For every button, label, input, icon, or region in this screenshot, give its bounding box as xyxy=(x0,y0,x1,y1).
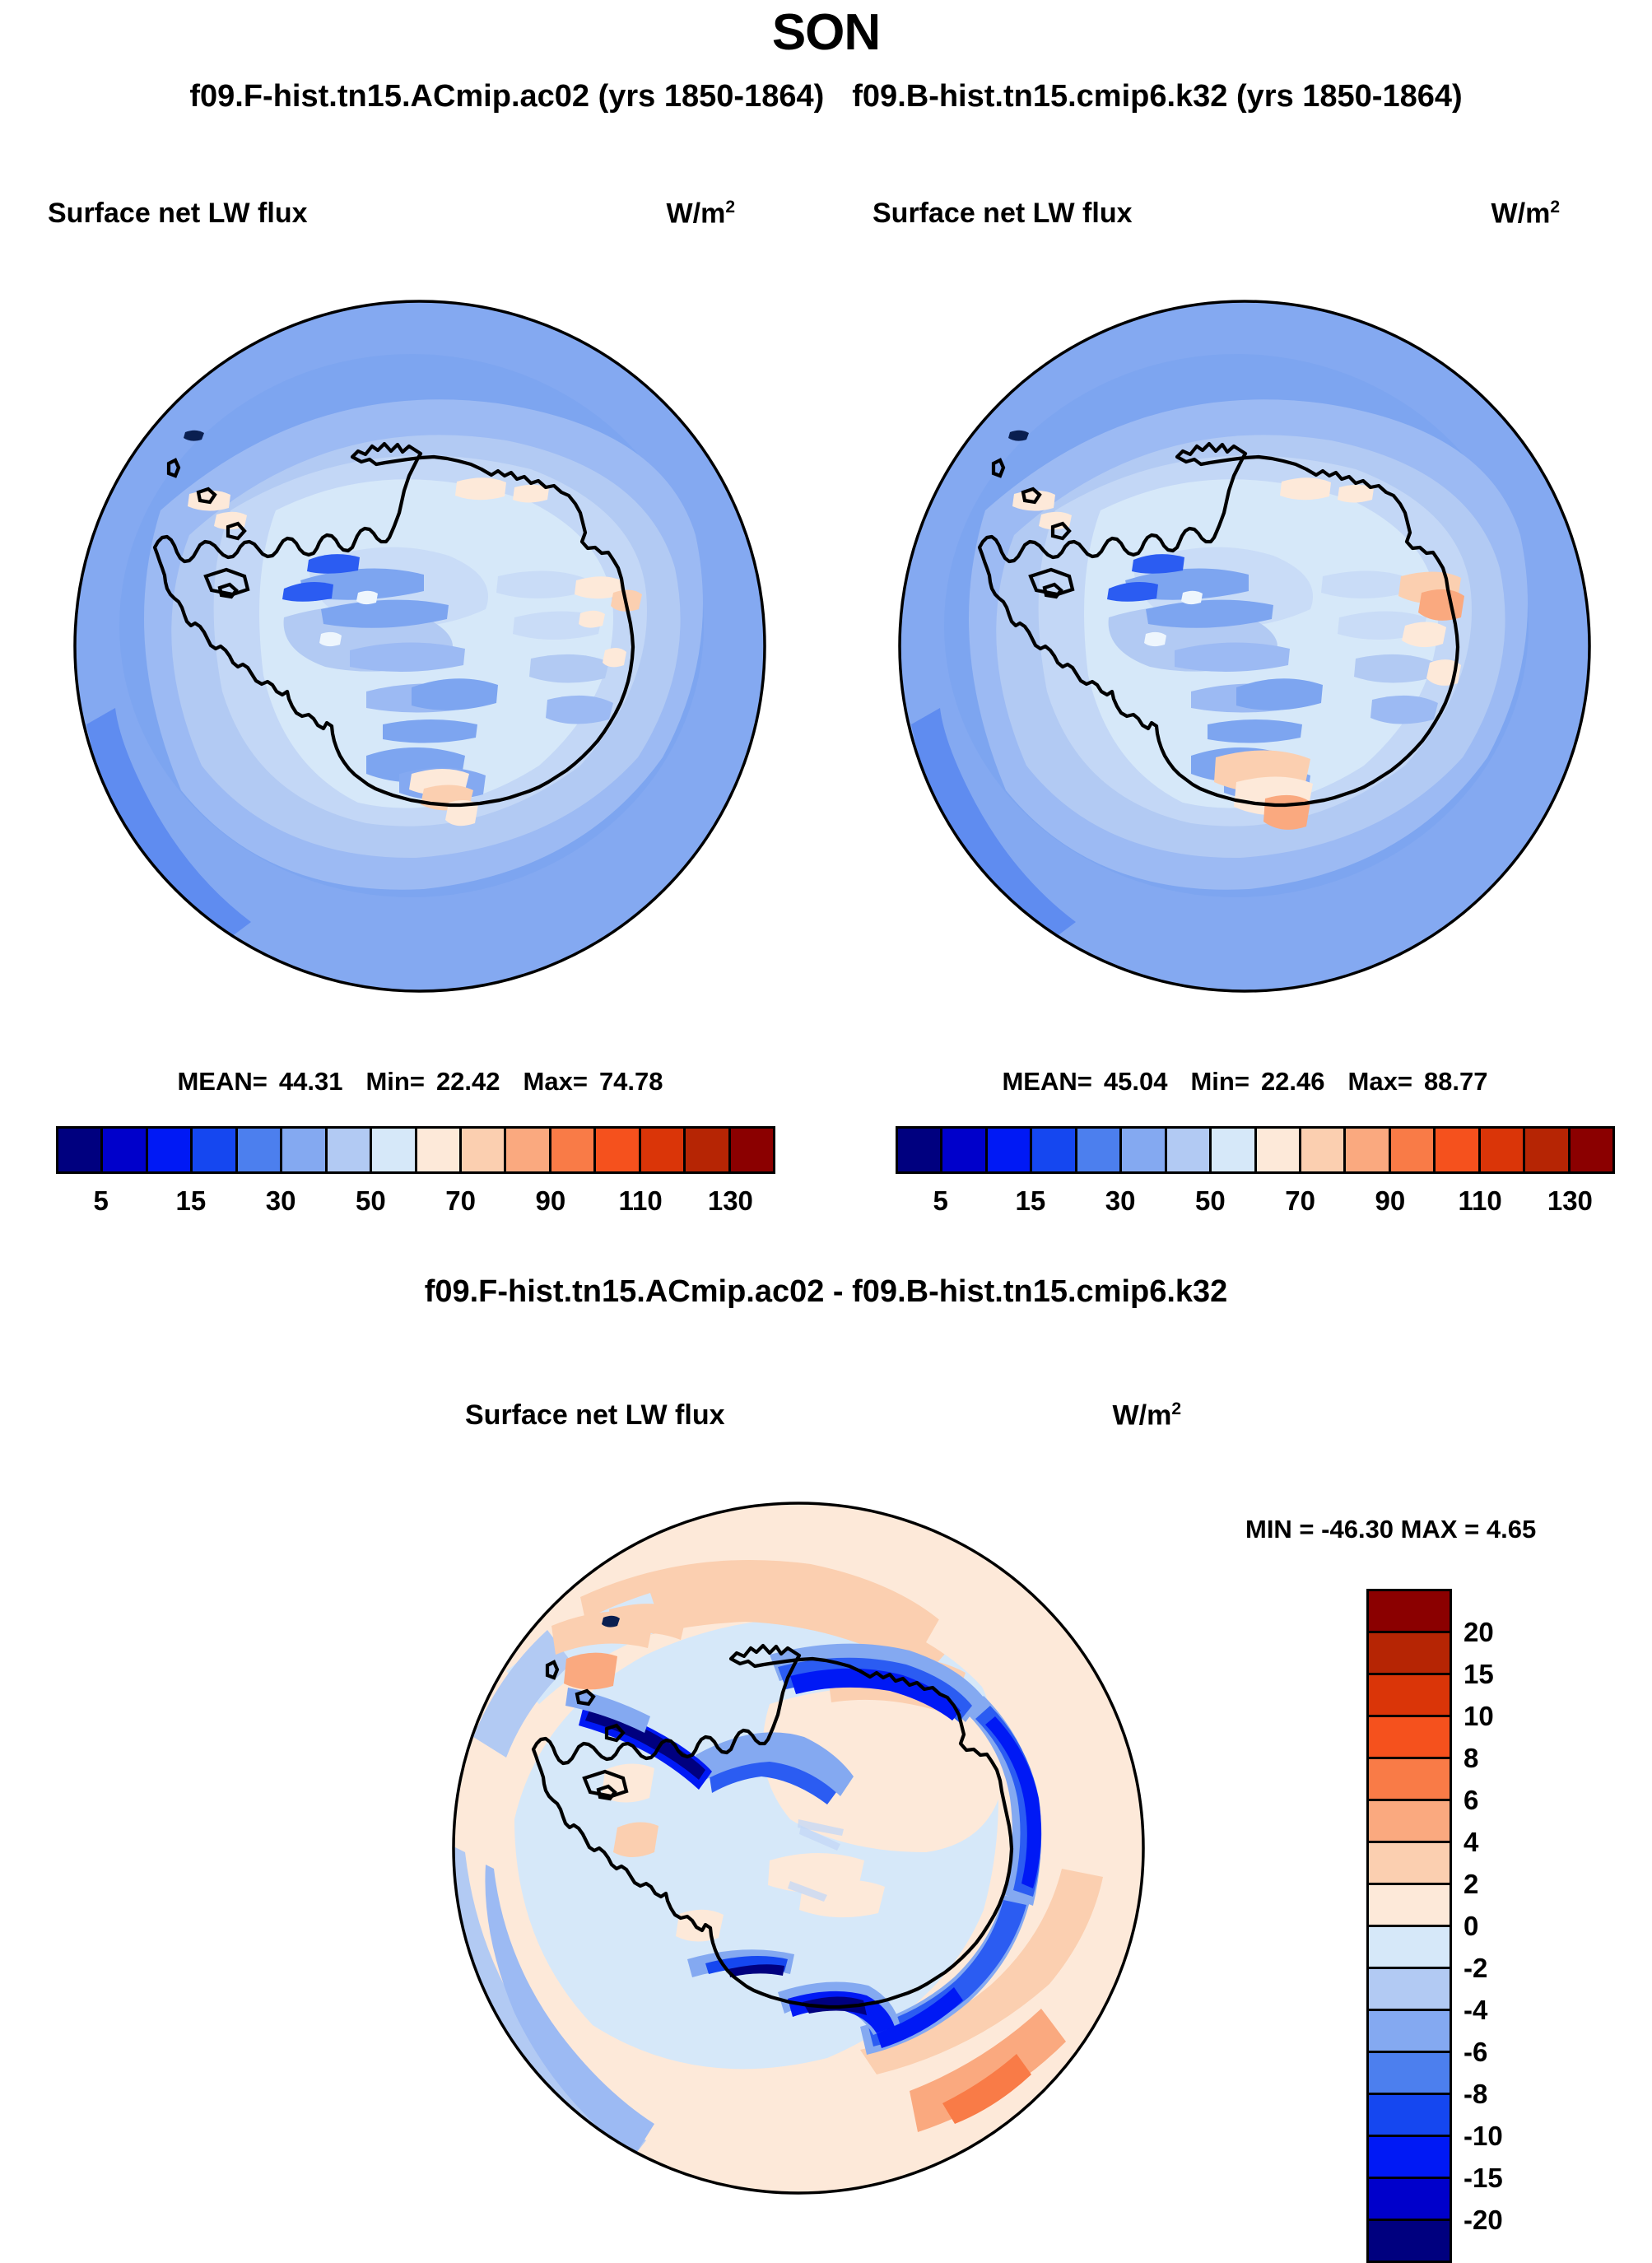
panel-diff-variable-label: Surface net LW flux xyxy=(465,1399,725,1432)
colorbar-cell-12 xyxy=(1369,2095,1450,2137)
colorbar-diff-strip[interactable] xyxy=(1366,1589,1452,2263)
units-exponent: 2 xyxy=(1171,1399,1181,1418)
colorbar-tick-label: 130 xyxy=(1547,1185,1593,1217)
colorbar-tick-label: 70 xyxy=(445,1185,476,1217)
panel-left-variable-label: Surface net LW flux xyxy=(48,198,308,230)
colorbar-tick-label: -6 xyxy=(1464,2037,1487,2068)
colorbar-tick-label: 4 xyxy=(1464,1827,1478,1858)
units-text: W/m xyxy=(1113,1399,1172,1431)
colorbar-left[interactable]: 51530507090110130 xyxy=(56,1126,775,1223)
colorbar-tick-label: 110 xyxy=(619,1185,663,1217)
colorbar-cell-4 xyxy=(1369,1759,1450,1801)
panel-right-stats: MEAN=45.04Min=22.46Max=88.77 xyxy=(873,1067,1617,1097)
map-right-svg xyxy=(862,263,1627,1029)
colorbar-cell-13 xyxy=(1481,1129,1525,1171)
colorbar-cell-14 xyxy=(1369,2179,1450,2221)
colorbar-cell-3 xyxy=(193,1129,237,1171)
min-value: 22.46 xyxy=(1261,1067,1325,1096)
colorbar-tick-label: 90 xyxy=(1375,1185,1406,1217)
colorbar-cell-15 xyxy=(731,1129,773,1171)
colorbar-cell-1 xyxy=(942,1129,987,1171)
mean-label: MEAN= xyxy=(177,1067,267,1096)
colorbar-cell-10 xyxy=(1346,1129,1390,1171)
colorbar-right-strip[interactable] xyxy=(896,1126,1615,1174)
colorbar-cell-13 xyxy=(1369,2137,1450,2179)
colorbar-cell-0 xyxy=(898,1129,942,1171)
units-text: W/m xyxy=(1491,198,1551,229)
colorbar-cell-14 xyxy=(686,1129,730,1171)
max-label: Max= xyxy=(524,1067,588,1096)
panel-left-units-label: W/m2 xyxy=(667,198,735,230)
colorbar-cell-8 xyxy=(417,1129,462,1171)
colorbar-tick-label: 50 xyxy=(1195,1185,1226,1217)
colorbar-cell-2 xyxy=(988,1129,1032,1171)
panel-right-units-label: W/m2 xyxy=(1491,198,1560,230)
min-value: 22.42 xyxy=(436,1067,500,1096)
colorbar-diff-labels: 20151086420-2-4-6-8-10-15-20 xyxy=(1464,1589,1571,2263)
colorbar-diff[interactable]: 20151086420-2-4-6-8-10-15-20 xyxy=(1366,1589,1571,2263)
min-label: Min= xyxy=(1190,1067,1249,1096)
colorbar-tick-label: 30 xyxy=(266,1185,296,1217)
min-label: Min= xyxy=(365,1067,424,1096)
colorbar-cell-5 xyxy=(1369,1801,1450,1843)
mean-value: 45.04 xyxy=(1104,1067,1168,1096)
colorbar-cell-0 xyxy=(1369,1591,1450,1633)
colorbar-tick-label: 8 xyxy=(1464,1743,1478,1774)
colorbar-tick-label: 0 xyxy=(1464,1911,1478,1942)
colorbar-tick-label: 110 xyxy=(1459,1185,1502,1217)
colorbar-cell-4 xyxy=(238,1129,282,1171)
case-title-left: f09.F-hist.tn15.ACmip.ac02 (yrs 1850-186… xyxy=(189,79,824,114)
panel-left: Surface net LW flux W/m2 xyxy=(48,198,793,235)
colorbar-tick-label: -2 xyxy=(1464,1953,1487,1984)
colorbar-tick-label: 30 xyxy=(1105,1185,1136,1217)
colorbar-cell-8 xyxy=(1369,1927,1450,1969)
case-title-right: f09.B-hist.tn15.cmip6.k32 (yrs 1850-1864… xyxy=(852,79,1462,114)
colorbar-cell-8 xyxy=(1257,1129,1301,1171)
colorbar-cell-7 xyxy=(1212,1129,1256,1171)
colorbar-cell-5 xyxy=(1122,1129,1166,1171)
colorbar-tick-label: -20 xyxy=(1464,2205,1503,2236)
colorbar-cell-3 xyxy=(1032,1129,1077,1171)
panel-left-header: Surface net LW flux W/m2 xyxy=(48,198,793,235)
colorbar-cell-11 xyxy=(1391,1129,1436,1171)
colorbar-tick-label: -8 xyxy=(1464,2079,1487,2110)
colorbar-cell-15 xyxy=(1369,2221,1450,2261)
colorbar-cell-6 xyxy=(328,1129,372,1171)
colorbar-cell-1 xyxy=(103,1129,147,1171)
colorbar-cell-12 xyxy=(596,1129,640,1171)
colorbar-tick-label: -10 xyxy=(1464,2121,1503,2152)
units-exponent: 2 xyxy=(725,198,735,217)
colorbar-cell-12 xyxy=(1436,1129,1480,1171)
colorbar-tick-label: 15 xyxy=(1464,1659,1494,1690)
panel-diff-minmax: MIN = -46.30 MAX = 4.65 xyxy=(1245,1515,1536,1544)
max-value: 74.78 xyxy=(599,1067,663,1096)
units-exponent: 2 xyxy=(1550,198,1560,217)
colorbar-tick-label: 15 xyxy=(1016,1185,1046,1217)
colorbar-cell-11 xyxy=(1369,2053,1450,2095)
panel-right-variable-label: Surface net LW flux xyxy=(873,198,1133,230)
colorbar-cell-9 xyxy=(1369,1969,1450,2011)
colorbar-tick-label: 70 xyxy=(1285,1185,1315,1217)
panel-left-stats: MEAN=44.31Min=22.42Max=74.78 xyxy=(48,1067,793,1097)
colorbar-cell-10 xyxy=(506,1129,551,1171)
colorbar-cell-9 xyxy=(1301,1129,1346,1171)
colorbar-cell-9 xyxy=(462,1129,506,1171)
panel-right-header: Surface net LW flux W/m2 xyxy=(873,198,1617,235)
colorbar-tick-label: 5 xyxy=(933,1185,947,1217)
panel-diff-header: Surface net LW flux W/m2 xyxy=(465,1399,1288,1437)
colorbar-cell-4 xyxy=(1077,1129,1122,1171)
colorbar-tick-label: 10 xyxy=(1464,1701,1494,1732)
difference-title: f09.F-hist.tn15.ACmip.ac02 - f09.B-hist.… xyxy=(0,1274,1652,1310)
colorbar-cell-7 xyxy=(372,1129,416,1171)
colorbar-cell-6 xyxy=(1369,1843,1450,1885)
colorbar-tick-label: -4 xyxy=(1464,1995,1487,2026)
map-left xyxy=(37,263,803,1029)
max-value: 88.77 xyxy=(1424,1067,1488,1096)
colorbar-right[interactable]: 51530507090110130 xyxy=(896,1126,1615,1223)
colorbar-cell-2 xyxy=(148,1129,193,1171)
colorbar-cell-14 xyxy=(1525,1129,1570,1171)
colorbar-left-labels: 51530507090110130 xyxy=(56,1185,775,1223)
colorbar-cell-6 xyxy=(1167,1129,1212,1171)
page-title: SON xyxy=(0,3,1652,62)
panel-right: Surface net LW flux W/m2 xyxy=(873,198,1617,235)
colorbar-cell-11 xyxy=(551,1129,596,1171)
colorbar-cell-10 xyxy=(1369,2011,1450,2053)
colorbar-tick-label: 15 xyxy=(176,1185,207,1217)
map-right xyxy=(862,263,1627,1029)
colorbar-tick-label: 130 xyxy=(708,1185,753,1217)
colorbar-left-strip[interactable] xyxy=(56,1126,775,1174)
units-text: W/m xyxy=(667,198,726,229)
case-titles-row: f09.F-hist.tn15.ACmip.ac02 (yrs 1850-186… xyxy=(0,79,1652,114)
mean-label: MEAN= xyxy=(1002,1067,1091,1096)
colorbar-cell-7 xyxy=(1369,1885,1450,1927)
map-diff xyxy=(416,1465,1181,2231)
colorbar-cell-3 xyxy=(1369,1717,1450,1759)
max-label: Max= xyxy=(1348,1067,1412,1096)
colorbar-cell-2 xyxy=(1369,1675,1450,1717)
colorbar-cell-5 xyxy=(282,1129,327,1171)
colorbar-cell-1 xyxy=(1369,1633,1450,1675)
colorbar-tick-label: 90 xyxy=(536,1185,566,1217)
colorbar-tick-label: 5 xyxy=(93,1185,108,1217)
colorbar-tick-label: 2 xyxy=(1464,1869,1478,1900)
map-left-svg xyxy=(37,263,803,1029)
colorbar-tick-label: 50 xyxy=(356,1185,386,1217)
colorbar-tick-label: 6 xyxy=(1464,1785,1478,1816)
colorbar-cell-15 xyxy=(1571,1129,1612,1171)
colorbar-cell-0 xyxy=(58,1129,103,1171)
panel-diff-units-label: W/m2 xyxy=(1113,1399,1181,1432)
mean-value: 44.31 xyxy=(279,1067,343,1096)
map-diff-svg xyxy=(416,1465,1181,2231)
colorbar-tick-label: -15 xyxy=(1464,2163,1503,2194)
colorbar-right-labels: 51530507090110130 xyxy=(896,1185,1615,1223)
colorbar-cell-13 xyxy=(641,1129,686,1171)
colorbar-tick-label: 20 xyxy=(1464,1617,1494,1648)
